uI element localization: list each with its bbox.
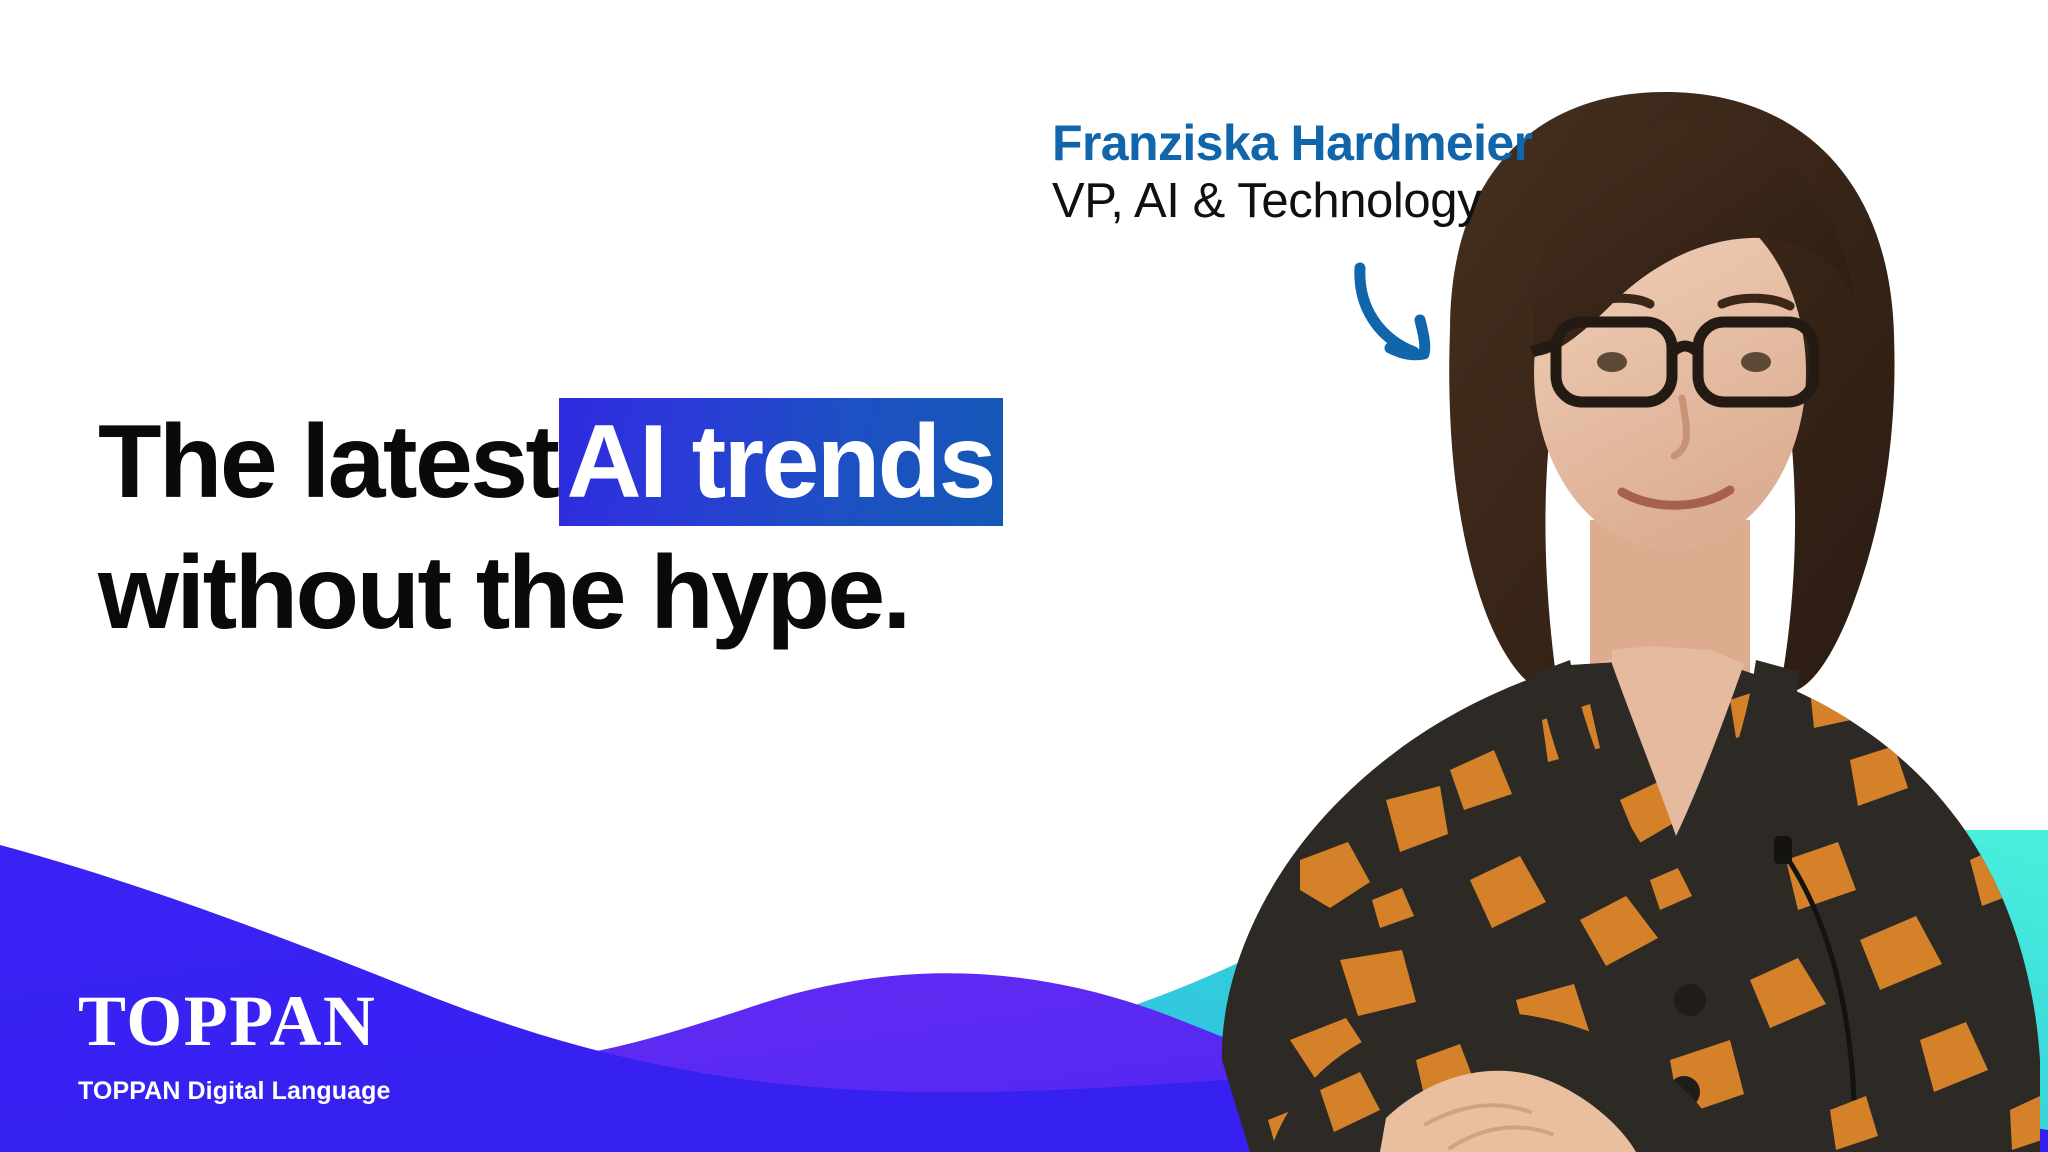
presenter-forearm-left (1270, 1012, 1720, 1152)
speaker-name: Franziska Hardmeier (1052, 116, 1533, 170)
presenter-eyebrows (1582, 298, 1790, 306)
presenter-mic-cable (1786, 856, 1854, 1100)
presenter-nose (1674, 398, 1686, 456)
headline-highlighted-phrase: AI trends (559, 398, 1002, 526)
presenter-sleeve-pattern (1320, 1044, 1476, 1132)
presenter-button (1668, 1076, 1700, 1108)
presenter-mouth (1622, 490, 1730, 505)
presenter-glasses (1532, 322, 1814, 402)
speaker-role: VP, AI & Technology (1052, 174, 1533, 229)
presenter-fingers (1426, 1105, 1552, 1148)
headline-line-1: The latest AI trends (98, 398, 1003, 526)
presenter-lapel-left (1538, 660, 1660, 880)
speaker-identification: Franziska Hardmeier VP, AI & Technology (1052, 116, 1533, 229)
headline-plain-text: The latest (98, 398, 557, 526)
page-title: The latest AI trends without the hype. (98, 398, 1003, 657)
presenter-blouse (1222, 660, 2040, 1152)
presenter-hands (1380, 1071, 1636, 1152)
presenter-neck (1590, 520, 1750, 700)
wave-teal (1000, 830, 2048, 1152)
presenter-face (1534, 194, 1806, 550)
presenter-button (1674, 984, 1706, 1016)
presenter-eyes (1597, 352, 1771, 372)
presenter-collar (1612, 646, 1744, 836)
presenter-hair-front (1534, 126, 1854, 356)
headline-line-2: without the hype. (98, 529, 1003, 657)
toppan-logo: TOPPAN TOPPAN Digital Language (78, 985, 391, 1104)
curved-down-right-arrow-icon (1348, 258, 1478, 368)
logo-wordmark: TOPPAN (78, 985, 391, 1057)
logo-tagline: TOPPAN Digital Language (78, 1079, 391, 1104)
presenter-lapel-right (1678, 660, 1800, 882)
presenter-chest (1450, 650, 1870, 900)
presenter-mic-clip (1774, 836, 1792, 864)
presenter-blouse-pattern (1268, 680, 2048, 1152)
video-title-card: Franziska Hardmeier VP, AI & Technology … (0, 0, 2048, 1152)
